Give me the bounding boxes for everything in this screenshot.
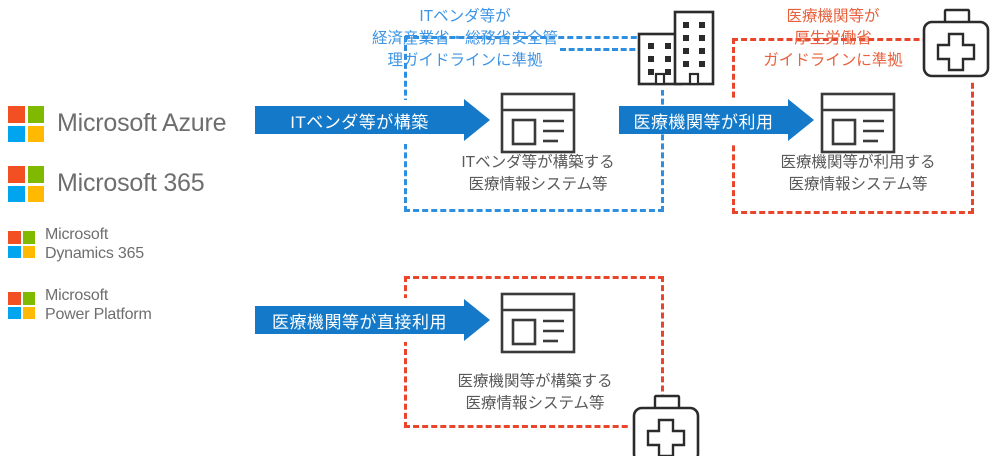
product-logo-dynamics365: Microsoft Dynamics 365 (8, 226, 144, 264)
product-logo-m365: Microsoft 365 (8, 166, 204, 202)
diagram-canvas: Microsoft Azure Microsoft 365 Microsoft … (0, 0, 1000, 456)
product-name: Microsoft Azure (57, 109, 226, 139)
arrow-head (788, 99, 814, 141)
callout-vendor-compliance: ITベンダ等が 経済産業省・総務省安全管 理ガイドラインに準拠 (333, 6, 597, 72)
medical-bag-icon (920, 4, 992, 82)
system-window-icon (820, 92, 896, 154)
microsoft-logo-icon (8, 292, 35, 319)
system-window-icon (500, 292, 576, 354)
product-name: Microsoft Power Platform (45, 287, 152, 325)
office-buildings-icon (615, 4, 713, 86)
arrow-medical-direct-use[interactable]: 医療機関等が直接利用 (255, 299, 490, 341)
microsoft-logo-icon (8, 166, 44, 202)
caption-hospital-used-system: 医療機関等が利用する 医療情報システム等 (748, 152, 968, 197)
microsoft-logo-icon (8, 106, 44, 142)
product-name: Microsoft 365 (57, 169, 204, 199)
product-logo-azure: Microsoft Azure (8, 106, 226, 142)
product-logo-power-platform: Microsoft Power Platform (8, 287, 152, 325)
arrow-vendor-builds[interactable]: ITベンダ等が構築 (255, 99, 490, 141)
caption-hospital-built-system: 医療機関等が構築する 医療情報システム等 (420, 371, 650, 416)
system-window-icon (500, 92, 576, 154)
arrow-medical-uses[interactable]: 医療機関等が利用 (619, 99, 814, 141)
product-name: Microsoft Dynamics 365 (45, 226, 144, 264)
arrow-head (464, 299, 490, 341)
caption-vendor-system: ITベンダ等が構築する 医療情報システム等 (428, 152, 648, 197)
microsoft-logo-icon (8, 231, 35, 258)
arrow-label: 医療機関等が直接利用 (255, 299, 464, 341)
callout-medical-compliance: 医療機関等が 厚生労働省 ガイドラインに準拠 (727, 6, 939, 72)
arrow-label: 医療機関等が利用 (619, 99, 788, 141)
arrow-head (464, 99, 490, 141)
arrow-label: ITベンダ等が構築 (255, 99, 464, 141)
